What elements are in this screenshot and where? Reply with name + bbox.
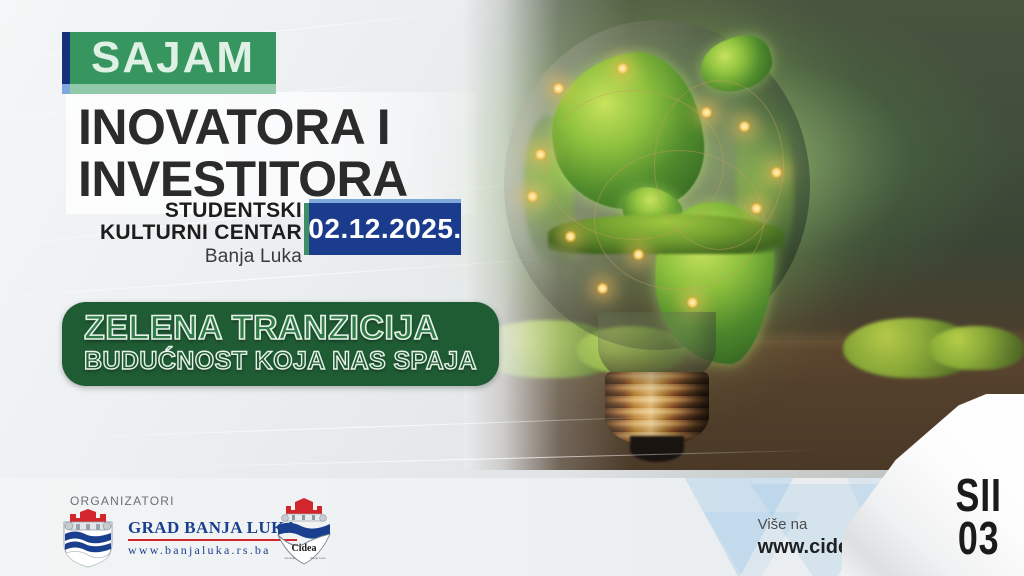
tagline-main: ZELENA TRANZICIJA <box>84 311 477 346</box>
svg-text:inovacije: inovacije <box>284 556 296 560</box>
venue-block: STUDENTSKI KULTURNI CENTAR Banja Luka <box>64 200 302 267</box>
bulb-screw-base <box>605 372 709 446</box>
svg-text:Banja Luka: Banja Luka <box>310 556 325 560</box>
bulb-glass <box>504 20 810 350</box>
moss-clump <box>843 318 978 378</box>
organizer-city-logo: GRAD BANJA LUKA www.banjaluka.rs.ba <box>62 508 297 568</box>
glow-node <box>700 106 713 119</box>
lightbulb-graphic <box>492 12 822 462</box>
glow-node <box>738 120 751 133</box>
tagline-badge: ZELENA TRANZICIJA BUDUĆNOST KOJA NAS SPA… <box>62 302 499 386</box>
mint-accent-bar <box>70 84 276 94</box>
glow-node <box>686 296 699 309</box>
event-date: 02.12.2025. <box>308 213 461 245</box>
tagline-sub: BUDUĆNOST KOJA NAS SPAJA <box>84 348 477 375</box>
corner-badge-line-1: SII <box>955 474 1001 517</box>
moss-clump <box>928 326 1024 370</box>
headline-line-1: INOVATORA I <box>78 102 390 152</box>
glow-node <box>564 230 577 243</box>
glow-node <box>632 248 645 261</box>
glow-node <box>534 148 547 161</box>
venue-line-2: KULTURNI CENTAR <box>64 222 302 244</box>
glow-node <box>596 282 609 295</box>
organizers-label: ORGANIZATORI <box>70 494 175 508</box>
filament-wire <box>654 80 784 250</box>
venue-city: Banja Luka <box>64 247 302 267</box>
bulb-contact-tip <box>630 436 684 462</box>
kicker-label: SAJAM <box>91 36 255 80</box>
kicker-blue-accent <box>62 32 70 84</box>
glow-node <box>770 166 783 179</box>
venue-line-1: STUDENTSKI <box>64 200 302 222</box>
date-badge: 02.12.2025. <box>309 203 461 255</box>
glow-node <box>526 190 539 203</box>
corner-badge: SII 03 <box>949 474 1008 560</box>
corner-badge-line-2: 03 <box>955 517 1001 560</box>
mint-blue-square <box>62 84 70 94</box>
glow-node <box>616 62 629 75</box>
banja-luka-coat-of-arms-icon <box>62 508 114 568</box>
headline-line-2: INVESTITORA <box>78 154 408 204</box>
svg-text:Cidea: Cidea <box>292 543 317 554</box>
glow-node <box>750 202 763 215</box>
event-poster: SAJAM INOVATORA I INVESTITORA STUDENTSKI… <box>0 0 1024 576</box>
kicker-badge: SAJAM <box>70 32 276 84</box>
cidea-logo-icon: Cidea inovacije Banja Luka <box>268 494 340 570</box>
glow-node <box>552 82 565 95</box>
